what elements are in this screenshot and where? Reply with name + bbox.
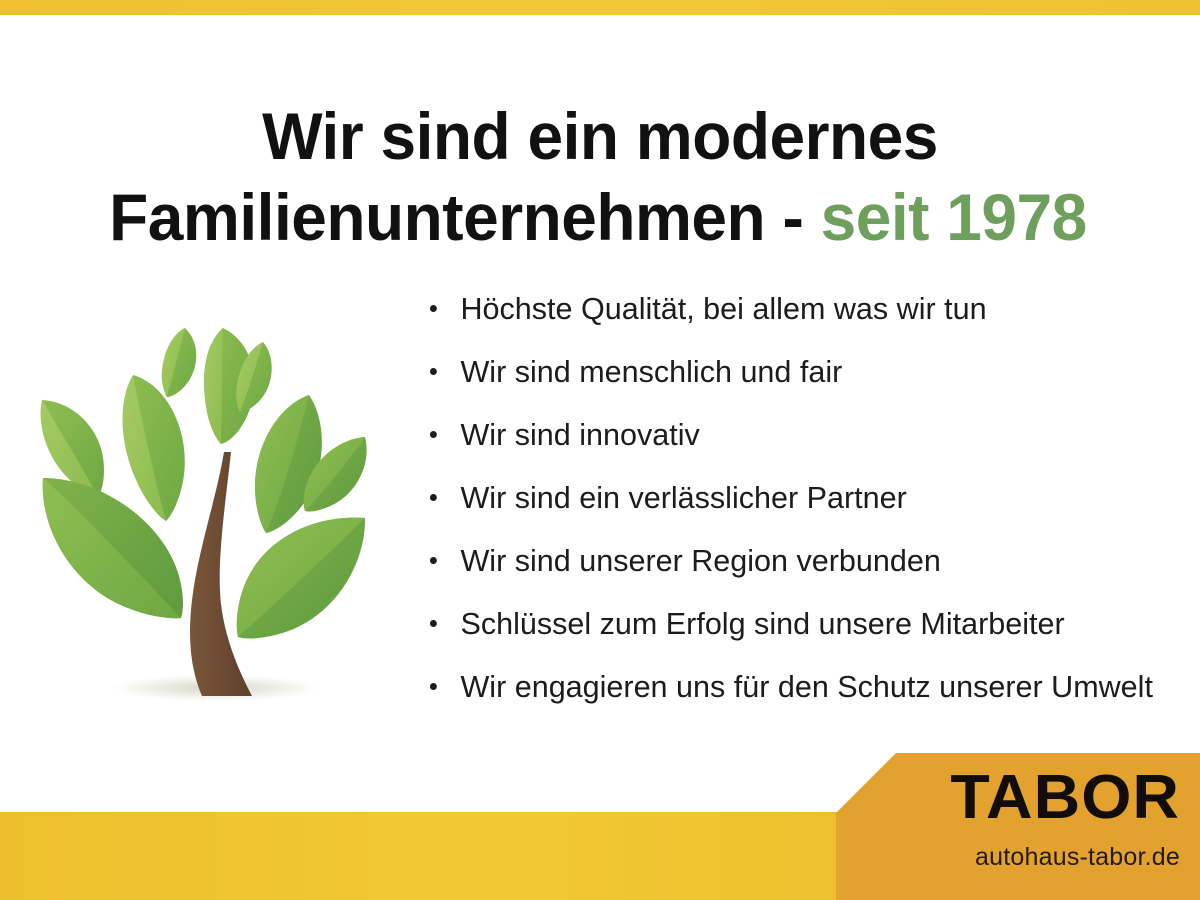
headline-line-2-plain: Familienunternehmen - xyxy=(109,180,820,254)
page-title: Wir sind ein modernes Familienunternehme… xyxy=(76,96,1124,258)
bullet-dot-icon xyxy=(430,368,437,375)
headline-line-1: Wir sind ein modernes xyxy=(262,99,938,173)
list-item: Wir sind innovativ xyxy=(426,414,1175,477)
list-item: Höchste Qualität, bei allem was wir tun xyxy=(426,288,1175,351)
bullet-dot-icon xyxy=(430,620,437,627)
list-item-label: Wir sind ein verlässlicher Partner xyxy=(460,480,906,515)
list-item-label: Höchste Qualität, bei allem was wir tun xyxy=(460,291,986,326)
bullet-dot-icon xyxy=(430,494,437,501)
bullet-dot-icon xyxy=(430,431,437,438)
bullet-dot-icon xyxy=(430,683,437,690)
list-item: Wir sind ein verlässlicher Partner xyxy=(426,477,1175,540)
slide-root: Wir sind ein modernes Familienunternehme… xyxy=(0,0,1200,900)
tree-logo-illustration xyxy=(20,300,420,720)
list-item-label: Wir sind unserer Region verbunden xyxy=(460,543,940,578)
leaf-upper-right xyxy=(255,395,322,533)
list-item: Wir sind unserer Region verbunden xyxy=(426,540,1175,603)
leaf-upper-left xyxy=(123,375,185,521)
tree-trunk xyxy=(190,452,252,696)
headline-line-2: Familienunternehmen - seit 1978 xyxy=(109,177,1124,258)
leaf-bottom-right xyxy=(237,518,365,639)
brand-website-tagline: autohaus-tabor.de xyxy=(880,843,1180,871)
bullet-dot-icon xyxy=(430,305,437,312)
headline-accent-year: seit 1978 xyxy=(821,180,1087,254)
top-brand-bar xyxy=(0,0,1200,15)
list-item-label: Wir sind innovativ xyxy=(460,417,699,452)
list-item-label: Schlüssel zum Erfolg sind unsere Mitarbe… xyxy=(460,606,1064,641)
bullet-dot-icon xyxy=(430,557,437,564)
leaf-top-left-small xyxy=(162,328,196,397)
list-item: Wir sind menschlich und fair xyxy=(426,351,1175,414)
list-item: Wir engagieren uns für den Schutz unsere… xyxy=(426,666,1175,729)
list-item-label: Wir engagieren uns für den Schutz unsere… xyxy=(460,669,1152,704)
list-item-label: Wir sind menschlich und fair xyxy=(460,354,842,389)
brand-logo-wordmark: TABOR xyxy=(889,769,1180,827)
value-bullet-list: Höchste Qualität, bei allem was wir tun … xyxy=(426,288,1186,729)
list-item: Schlüssel zum Erfolg sind unsere Mitarbe… xyxy=(426,603,1175,666)
